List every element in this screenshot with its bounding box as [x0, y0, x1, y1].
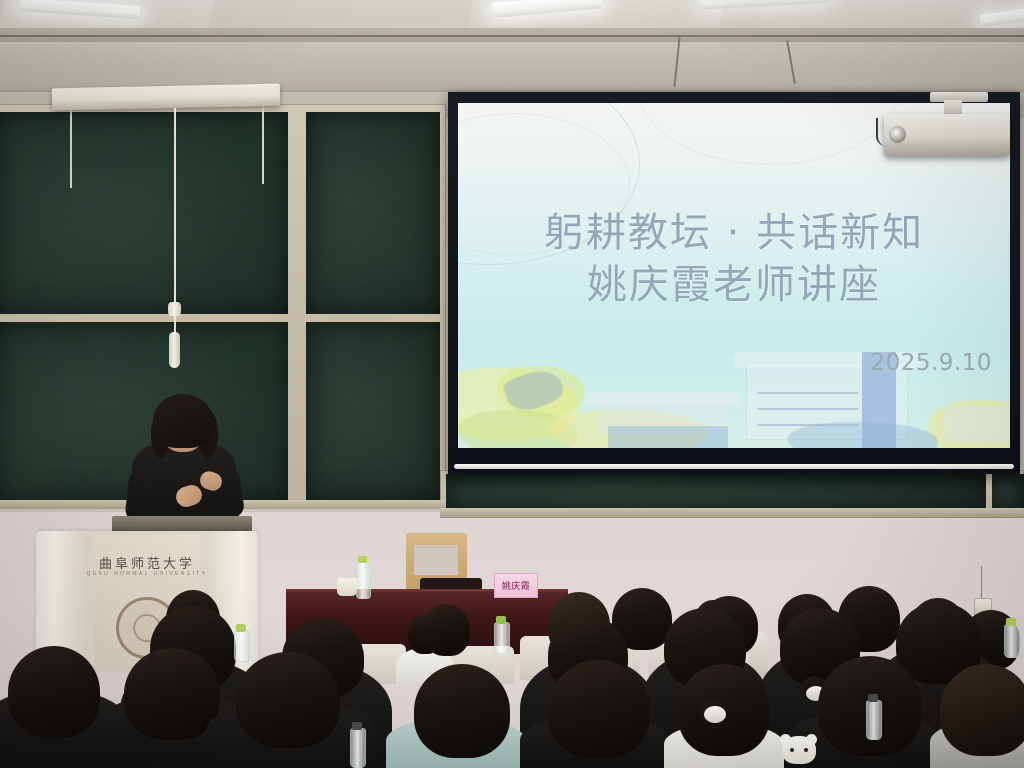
pull-cord-knob: [168, 302, 181, 316]
socket-wire: [981, 566, 982, 599]
chalk-ledge: [440, 508, 1024, 517]
slide-date: 2025.9.10: [870, 350, 992, 376]
audience-head: [548, 660, 650, 758]
speaker-hair-top: [153, 394, 213, 448]
audience-head: [424, 604, 470, 656]
blackboard-panel: [992, 474, 1024, 510]
projector-cable: [876, 118, 900, 146]
name-card: 姚庆霞: [494, 573, 538, 598]
light-hanger-rod: [262, 96, 264, 184]
podium-university-name-cn: 曲阜师范大学: [36, 553, 258, 572]
audience-head: [414, 664, 510, 758]
audience-head: [940, 664, 1024, 756]
audience-head: [124, 648, 220, 740]
blackboard-panel: [0, 112, 288, 314]
bottle-cap: [236, 624, 246, 632]
water-bottle-icon: [350, 728, 366, 768]
bottle-cap: [1006, 618, 1016, 626]
water-bottle-icon: [356, 562, 371, 599]
audience-head: [8, 646, 100, 738]
illustration-building-line: [758, 408, 858, 410]
illustration-building-line: [758, 392, 858, 394]
screen-weight-bar: [454, 464, 1014, 469]
water-bottle-icon: [494, 622, 510, 654]
blackboard-panel: [306, 322, 440, 500]
podium-university-name-en: QUFU NORMAL UNIVERSITY: [36, 571, 258, 577]
bottle-cap: [352, 722, 362, 730]
illustration-building-base: [608, 426, 728, 448]
illustration-building-roof: [586, 392, 740, 404]
blackboard-panel: [306, 112, 440, 314]
plush-toy-eye: [790, 748, 794, 752]
lecture-hall-photo: 躬耕教坛 · 共话新知 姚庆霞老师讲座 2025.9.10 曲阜师范大学 QUF…: [0, 0, 1024, 768]
audience-head: [236, 652, 340, 748]
bottle-cap: [868, 694, 878, 702]
pull-cord-icon: [174, 108, 176, 308]
illustration-blob: [788, 422, 938, 448]
name-card-label: 姚庆霞: [502, 579, 531, 592]
plush-toy-eye: [804, 748, 808, 752]
slide-title: 躬耕教坛 · 共话新知 姚庆霞老师讲座: [458, 207, 1010, 311]
bottle-cap: [358, 556, 367, 563]
blackboard-panel: [446, 474, 986, 510]
plush-toy-ear: [806, 734, 817, 745]
slide-title-line2: 姚庆霞老师讲座: [458, 259, 1010, 311]
illustration-building: [944, 406, 1010, 442]
hair-scrunchie: [704, 706, 726, 723]
slide-arc-decoration: [638, 103, 900, 165]
slide-title-line1: 躬耕教坛 · 共话新知: [458, 207, 1010, 259]
ceiling-wire: [0, 35, 1024, 37]
paper-cup-icon: [337, 578, 357, 596]
chair-backrest-gap: [414, 545, 458, 575]
pull-cord-weight: [169, 332, 180, 368]
water-bottle-icon: [866, 700, 882, 740]
water-bottle-icon: [234, 630, 250, 662]
plush-toy-ear: [780, 734, 791, 745]
bottle-cap: [496, 616, 506, 624]
water-bottle-icon: [1004, 624, 1020, 658]
